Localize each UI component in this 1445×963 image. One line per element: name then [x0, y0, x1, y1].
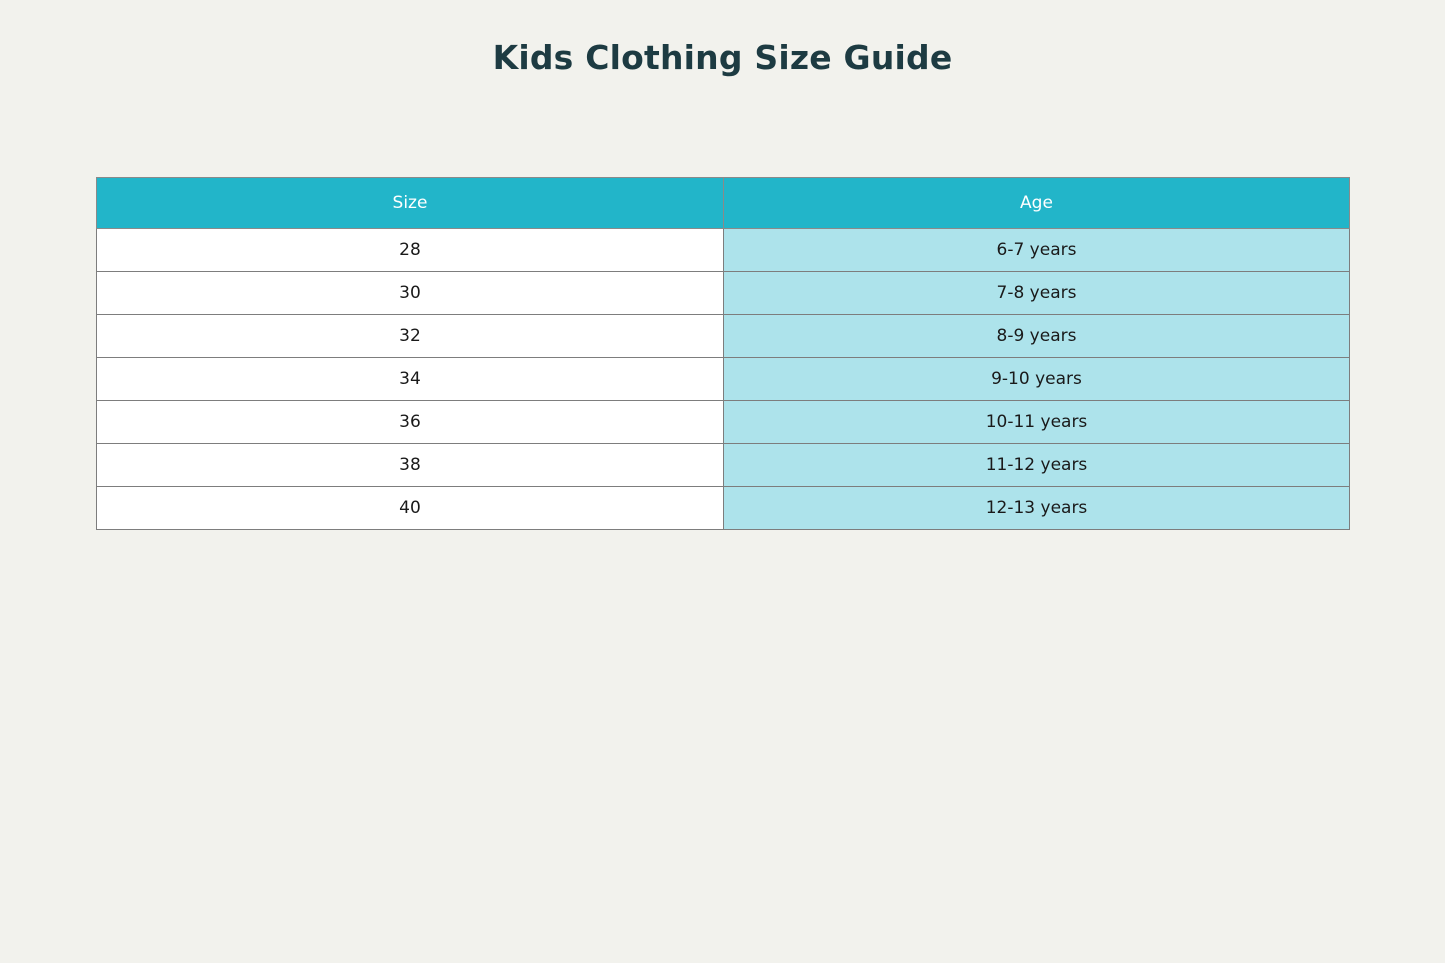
table-row: 40 12-13 years: [97, 487, 1350, 530]
table-row: 34 9-10 years: [97, 358, 1350, 401]
cell-size: 28: [97, 229, 724, 272]
cell-age: 12-13 years: [724, 487, 1350, 530]
cell-size: 32: [97, 315, 724, 358]
table-header-row: Size Age: [97, 178, 1350, 229]
table-row: 30 7-8 years: [97, 272, 1350, 315]
cell-age: 6-7 years: [724, 229, 1350, 272]
size-guide-table: Size Age 28 6-7 years 30 7-8 years 32 8-…: [96, 177, 1350, 530]
size-guide-page: Kids Clothing Size Guide Size Age 28 6-7…: [0, 0, 1445, 963]
page-title: Kids Clothing Size Guide: [0, 38, 1445, 77]
table-row: 36 10-11 years: [97, 401, 1350, 444]
cell-age: 10-11 years: [724, 401, 1350, 444]
table-row: 38 11-12 years: [97, 444, 1350, 487]
cell-age: 7-8 years: [724, 272, 1350, 315]
cell-size: 38: [97, 444, 724, 487]
size-guide-table-container: Size Age 28 6-7 years 30 7-8 years 32 8-…: [96, 177, 1349, 530]
column-header-size: Size: [97, 178, 724, 229]
cell-age: 11-12 years: [724, 444, 1350, 487]
table-header: Size Age: [97, 178, 1350, 229]
cell-size: 34: [97, 358, 724, 401]
table-body: 28 6-7 years 30 7-8 years 32 8-9 years 3…: [97, 229, 1350, 530]
table-row: 28 6-7 years: [97, 229, 1350, 272]
cell-age: 8-9 years: [724, 315, 1350, 358]
table-row: 32 8-9 years: [97, 315, 1350, 358]
cell-age: 9-10 years: [724, 358, 1350, 401]
cell-size: 40: [97, 487, 724, 530]
cell-size: 36: [97, 401, 724, 444]
column-header-age: Age: [724, 178, 1350, 229]
cell-size: 30: [97, 272, 724, 315]
